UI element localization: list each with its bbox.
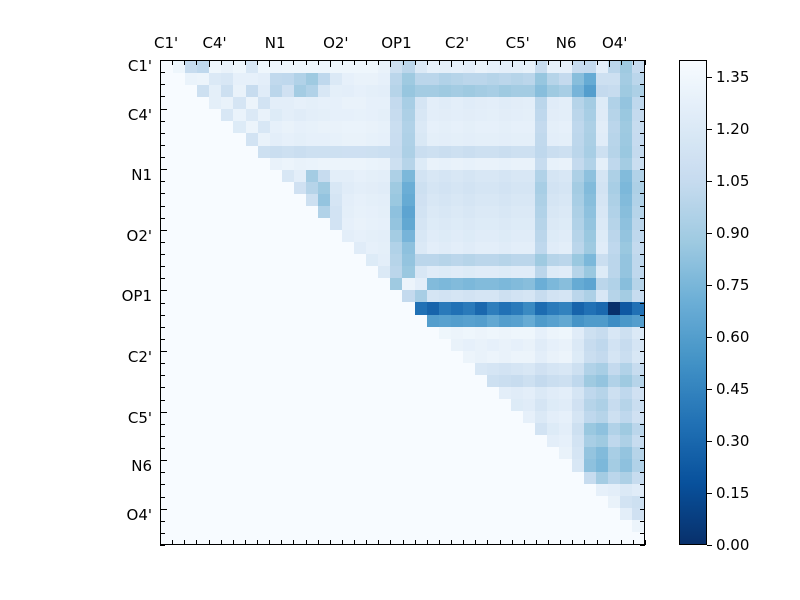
x-axis-tick — [584, 540, 585, 545]
heatmap-cell — [342, 121, 354, 133]
heatmap-cell — [535, 315, 547, 327]
heatmap-cell — [427, 484, 439, 496]
heatmap-cell — [366, 230, 378, 242]
heatmap-cell — [547, 73, 559, 85]
heatmap-cell — [402, 218, 414, 230]
heatmap-cell — [547, 302, 559, 314]
heatmap-cell — [197, 97, 209, 109]
heatmap-cell — [221, 242, 233, 254]
heatmap-cell — [620, 73, 632, 85]
heatmap-cell — [402, 73, 414, 85]
x-axis-tick — [621, 540, 622, 545]
y-axis-tick — [160, 484, 165, 485]
heatmap-cell — [632, 351, 644, 363]
heatmap-cell — [415, 423, 427, 435]
heatmap-cell — [197, 363, 209, 375]
heatmap-cell — [596, 158, 608, 170]
heatmap-cell — [487, 218, 499, 230]
x-axis-tick — [439, 60, 440, 65]
heatmap-cell — [620, 194, 632, 206]
heatmap-cell — [197, 447, 209, 459]
heatmap-cell — [511, 146, 523, 158]
heatmap-cell — [161, 218, 173, 230]
heatmap-cell — [366, 459, 378, 471]
heatmap-cell — [294, 170, 306, 182]
heatmap-cell — [246, 472, 258, 484]
heatmap-cell — [233, 447, 245, 459]
heatmap-cell — [608, 230, 620, 242]
y-axis-major-tick — [160, 109, 167, 110]
colorbar[interactable]: 0.000.150.300.450.600.750.901.051.201.35 — [679, 60, 707, 545]
x-axis-major-tick — [330, 60, 331, 67]
heatmap-cell — [608, 423, 620, 435]
heatmap-cell — [499, 484, 511, 496]
heatmap-cell — [270, 435, 282, 447]
y-axis-tick — [640, 303, 645, 304]
heatmap-cell — [475, 206, 487, 218]
x-axis-tick — [269, 540, 270, 545]
heatmap-cell — [378, 230, 390, 242]
heatmap-cell — [342, 206, 354, 218]
heatmap-cell — [415, 375, 427, 387]
heatmap-cell — [547, 254, 559, 266]
heatmap-cell — [390, 375, 402, 387]
heatmap-cell — [439, 254, 451, 266]
heatmap-cell — [306, 411, 318, 423]
heatmap-cell — [342, 411, 354, 423]
heatmap-cell — [197, 85, 209, 97]
heatmap-cell — [451, 387, 463, 399]
heatmap-cell — [354, 532, 366, 544]
heatmap-cell — [318, 435, 330, 447]
heatmap-cell — [584, 206, 596, 218]
heatmap-cell — [451, 170, 463, 182]
heatmap-cell — [209, 520, 221, 532]
heatmap-cell — [366, 399, 378, 411]
heatmap-cell — [523, 327, 535, 339]
heatmap-cell — [233, 194, 245, 206]
heatmap-cell — [620, 351, 632, 363]
heatmap-cell — [463, 302, 475, 314]
heatmap-cell — [475, 278, 487, 290]
heatmap-cell — [221, 375, 233, 387]
heatmap-cell — [366, 532, 378, 544]
heatmap-cell — [596, 194, 608, 206]
heatmap-cell — [559, 496, 571, 508]
heatmap-cell — [572, 254, 584, 266]
heatmap-cell — [354, 411, 366, 423]
heatmap-cell — [415, 182, 427, 194]
heatmap-cell — [584, 194, 596, 206]
heatmap-cell — [173, 121, 185, 133]
heatmap-cell — [596, 399, 608, 411]
heatmap-cell — [221, 484, 233, 496]
heatmap-cell — [258, 447, 270, 459]
heatmap-cell — [282, 182, 294, 194]
heatmap-cell — [559, 266, 571, 278]
heatmap-cell — [608, 133, 620, 145]
heatmap-cell — [463, 97, 475, 109]
heatmap-cell — [535, 278, 547, 290]
heatmap-cell — [559, 170, 571, 182]
heatmap-cell — [475, 387, 487, 399]
heatmap-cell — [197, 375, 209, 387]
heatmap-cell — [523, 121, 535, 133]
heatmap-cell — [487, 520, 499, 532]
heatmap-cell — [318, 121, 330, 133]
heatmap-cell — [161, 182, 173, 194]
heatmap-cell — [547, 339, 559, 351]
heatmap-cell — [559, 459, 571, 471]
heatmap-cell — [487, 194, 499, 206]
heatmap-cell — [415, 97, 427, 109]
heatmap-cell — [451, 242, 463, 254]
heatmap-cell — [559, 97, 571, 109]
heatmap-cell — [475, 85, 487, 97]
heatmap-cell — [306, 351, 318, 363]
heatmap-cell — [415, 532, 427, 544]
heatmap-cell — [584, 435, 596, 447]
heatmap-cell — [451, 121, 463, 133]
heatmap-cell — [499, 399, 511, 411]
heatmap-cell — [294, 423, 306, 435]
heatmap-cell — [197, 508, 209, 520]
heatmap-cell — [572, 242, 584, 254]
heatmap-cell — [294, 399, 306, 411]
x-axis-tick — [548, 540, 549, 545]
heatmap-cell — [366, 447, 378, 459]
heatmap-cell — [523, 133, 535, 145]
heatmap-cell — [306, 435, 318, 447]
heatmap-cell — [185, 170, 197, 182]
heatmap-cell — [596, 327, 608, 339]
heatmap-cell — [246, 302, 258, 314]
heatmap-cell — [427, 194, 439, 206]
heatmap-cell — [221, 218, 233, 230]
heatmap-cell — [415, 339, 427, 351]
heatmap-cell — [294, 459, 306, 471]
heatmap-cell — [620, 484, 632, 496]
heatmap-cell — [330, 109, 342, 121]
heatmap-cell — [282, 508, 294, 520]
heatmap-cell — [306, 447, 318, 459]
heatmap-cell — [209, 290, 221, 302]
heatmap-axes[interactable] — [160, 60, 645, 545]
heatmap-cell — [451, 97, 463, 109]
y-axis-tick — [640, 242, 645, 243]
y-axis-tick — [160, 157, 165, 158]
heatmap-cell — [535, 484, 547, 496]
heatmap-cell — [523, 302, 535, 314]
heatmap-cell — [366, 73, 378, 85]
heatmap-cell — [620, 472, 632, 484]
heatmap-cell — [258, 73, 270, 85]
heatmap-cell — [233, 351, 245, 363]
heatmap-cell — [294, 182, 306, 194]
heatmap-cell — [547, 170, 559, 182]
heatmap-cell — [221, 109, 233, 121]
heatmap-cell — [620, 447, 632, 459]
heatmap-cell — [342, 194, 354, 206]
heatmap-cell — [608, 496, 620, 508]
heatmap-cell — [596, 278, 608, 290]
heatmap-cell — [318, 302, 330, 314]
heatmap-cell — [354, 375, 366, 387]
heatmap-cell — [608, 85, 620, 97]
heatmap-cell — [270, 399, 282, 411]
x-axis-major-tick — [209, 60, 210, 67]
heatmap-cell — [306, 520, 318, 532]
heatmap-cell — [390, 532, 402, 544]
heatmap-cell — [233, 206, 245, 218]
heatmap-cell — [439, 423, 451, 435]
heatmap-cell — [439, 363, 451, 375]
heatmap-cell — [185, 302, 197, 314]
heatmap-cell — [572, 327, 584, 339]
heatmap-cell — [233, 363, 245, 375]
heatmap-cell — [233, 302, 245, 314]
heatmap-cell — [258, 532, 270, 544]
heatmap-cell — [463, 133, 475, 145]
heatmap-cell — [499, 351, 511, 363]
heatmap-cell — [209, 121, 221, 133]
y-axis-tick — [640, 266, 645, 267]
heatmap-cell — [439, 230, 451, 242]
heatmap-cell — [185, 339, 197, 351]
heatmap-cell — [547, 327, 559, 339]
heatmap-cell — [185, 133, 197, 145]
heatmap-cell — [246, 339, 258, 351]
y-axis-tick — [160, 400, 165, 401]
heatmap-cell — [547, 290, 559, 302]
heatmap-cell — [596, 254, 608, 266]
heatmap-cell — [246, 206, 258, 218]
y-axis-tick — [640, 254, 645, 255]
heatmap-cell — [246, 351, 258, 363]
heatmap-cell — [258, 472, 270, 484]
heatmap-cell — [415, 484, 427, 496]
y-axis-tick — [160, 278, 165, 279]
heatmap-cell — [559, 218, 571, 230]
heatmap-cell — [342, 363, 354, 375]
heatmap-cell — [221, 399, 233, 411]
heatmap-cell — [402, 447, 414, 459]
heatmap-cell — [318, 182, 330, 194]
y-axis-major-tick — [160, 509, 167, 510]
heatmap-cell — [378, 387, 390, 399]
y-axis-tick — [640, 193, 645, 194]
heatmap-cell — [233, 375, 245, 387]
heatmap-cell — [233, 484, 245, 496]
heatmap-cell — [596, 73, 608, 85]
x-axis-tick — [451, 540, 452, 545]
heatmap-cell — [209, 85, 221, 97]
heatmap-cell — [439, 218, 451, 230]
heatmap-cell — [402, 399, 414, 411]
heatmap-cell — [402, 170, 414, 182]
x-axis-tick — [487, 60, 488, 65]
heatmap-cell — [185, 484, 197, 496]
heatmap-cell — [258, 218, 270, 230]
heatmap-cell — [282, 61, 294, 73]
heatmap-cell — [559, 61, 571, 73]
heatmap-cell — [487, 375, 499, 387]
y-axis-tick — [640, 400, 645, 401]
heatmap-cell — [499, 290, 511, 302]
heatmap-cell — [270, 97, 282, 109]
heatmap-cell — [523, 520, 535, 532]
heatmap-cell — [246, 447, 258, 459]
heatmap-cell — [330, 133, 342, 145]
heatmap-cell — [221, 447, 233, 459]
heatmap-cell — [523, 496, 535, 508]
heatmap-cell — [451, 423, 463, 435]
heatmap-cell — [487, 508, 499, 520]
heatmap-cell — [390, 520, 402, 532]
heatmap-cell — [523, 423, 535, 435]
heatmap-cell — [547, 315, 559, 327]
heatmap-cell — [306, 266, 318, 278]
heatmap-cell — [596, 121, 608, 133]
heatmap-cell — [523, 532, 535, 544]
heatmap-cell — [511, 61, 523, 73]
heatmap-cell — [487, 230, 499, 242]
heatmap-cell — [547, 375, 559, 387]
heatmap-cell — [572, 121, 584, 133]
heatmap-cell — [161, 97, 173, 109]
heatmap-cell — [608, 194, 620, 206]
heatmap-cell — [306, 254, 318, 266]
heatmap-cell — [221, 278, 233, 290]
heatmap-cell — [185, 278, 197, 290]
heatmap-cell — [620, 315, 632, 327]
heatmap-cell — [378, 411, 390, 423]
heatmap-cell — [463, 182, 475, 194]
heatmap-cell — [463, 411, 475, 423]
y-axis-tick — [160, 242, 165, 243]
heatmap-cell — [402, 182, 414, 194]
heatmap-cell — [535, 218, 547, 230]
heatmap-cell — [572, 375, 584, 387]
heatmap-cell — [572, 387, 584, 399]
heatmap-cell — [415, 496, 427, 508]
heatmap-cell — [390, 327, 402, 339]
heatmap-cell — [378, 327, 390, 339]
heatmap-cell — [233, 290, 245, 302]
heatmap-cell — [173, 302, 185, 314]
heatmap-cell — [161, 158, 173, 170]
x-axis-tick — [233, 540, 234, 545]
heatmap-cell — [294, 242, 306, 254]
heatmap-cell — [451, 532, 463, 544]
heatmap-cell — [499, 411, 511, 423]
heatmap-cell — [584, 459, 596, 471]
heatmap-cell — [415, 242, 427, 254]
heatmap-cell — [523, 254, 535, 266]
heatmap-cell — [535, 109, 547, 121]
x-axis-tick — [378, 540, 379, 545]
heatmap-cell — [632, 109, 644, 121]
x-axis-major-tick — [390, 60, 391, 67]
heatmap-cell — [354, 73, 366, 85]
x-axis-tick — [403, 60, 404, 65]
heatmap-cell — [439, 375, 451, 387]
heatmap-cell — [161, 399, 173, 411]
heatmap-cell — [342, 85, 354, 97]
heatmap-cell — [306, 423, 318, 435]
heatmap-cell — [378, 254, 390, 266]
heatmap-cell — [499, 435, 511, 447]
heatmap-cell — [620, 254, 632, 266]
heatmap-cell — [354, 472, 366, 484]
heatmap-cell — [330, 339, 342, 351]
heatmap-cell — [608, 254, 620, 266]
heatmap-cell — [197, 459, 209, 471]
heatmap-cell — [451, 85, 463, 97]
heatmap-cell — [173, 351, 185, 363]
heatmap-cell — [330, 508, 342, 520]
heatmap-cell — [427, 302, 439, 314]
heatmap-cell — [390, 484, 402, 496]
heatmap-cell — [439, 520, 451, 532]
heatmap-cell — [547, 206, 559, 218]
x-axis-tick — [427, 60, 428, 65]
heatmap-cell — [535, 194, 547, 206]
heatmap-cell — [270, 254, 282, 266]
y-axis-tick — [640, 375, 645, 376]
heatmap-cell — [427, 472, 439, 484]
heatmap-cell — [427, 459, 439, 471]
heatmap-cell — [161, 302, 173, 314]
y-axis-tick — [640, 387, 645, 388]
x-axis-tick — [560, 540, 561, 545]
heatmap-cell — [451, 496, 463, 508]
heatmap-cell — [246, 194, 258, 206]
x-axis-tick — [245, 60, 246, 65]
heatmap-cell — [547, 278, 559, 290]
heatmap-cell — [197, 472, 209, 484]
heatmap-cell — [294, 109, 306, 121]
heatmap-cell — [487, 459, 499, 471]
heatmap-cell — [632, 146, 644, 158]
heatmap-cell — [415, 315, 427, 327]
heatmap-cell — [572, 266, 584, 278]
heatmap-cell — [221, 327, 233, 339]
heatmap-cell — [330, 387, 342, 399]
heatmap-cell — [173, 266, 185, 278]
heatmap-cell — [258, 206, 270, 218]
heatmap-cell — [318, 85, 330, 97]
heatmap-cell — [282, 423, 294, 435]
heatmap-cell — [608, 290, 620, 302]
y-axis-major-tick — [160, 169, 167, 170]
y-tick-label: N6 — [82, 457, 152, 475]
heatmap-cell — [559, 447, 571, 459]
heatmap-cell — [282, 254, 294, 266]
heatmap-cell — [390, 315, 402, 327]
heatmap-cell — [547, 121, 559, 133]
heatmap-cell — [366, 266, 378, 278]
heatmap-cell — [559, 109, 571, 121]
heatmap-cell — [463, 121, 475, 133]
heatmap-cell — [330, 520, 342, 532]
heatmap-cell — [559, 315, 571, 327]
heatmap-cell — [318, 230, 330, 242]
heatmap-cell — [318, 290, 330, 302]
y-axis-tick — [160, 545, 165, 546]
heatmap-cell — [596, 472, 608, 484]
heatmap-cell — [427, 278, 439, 290]
